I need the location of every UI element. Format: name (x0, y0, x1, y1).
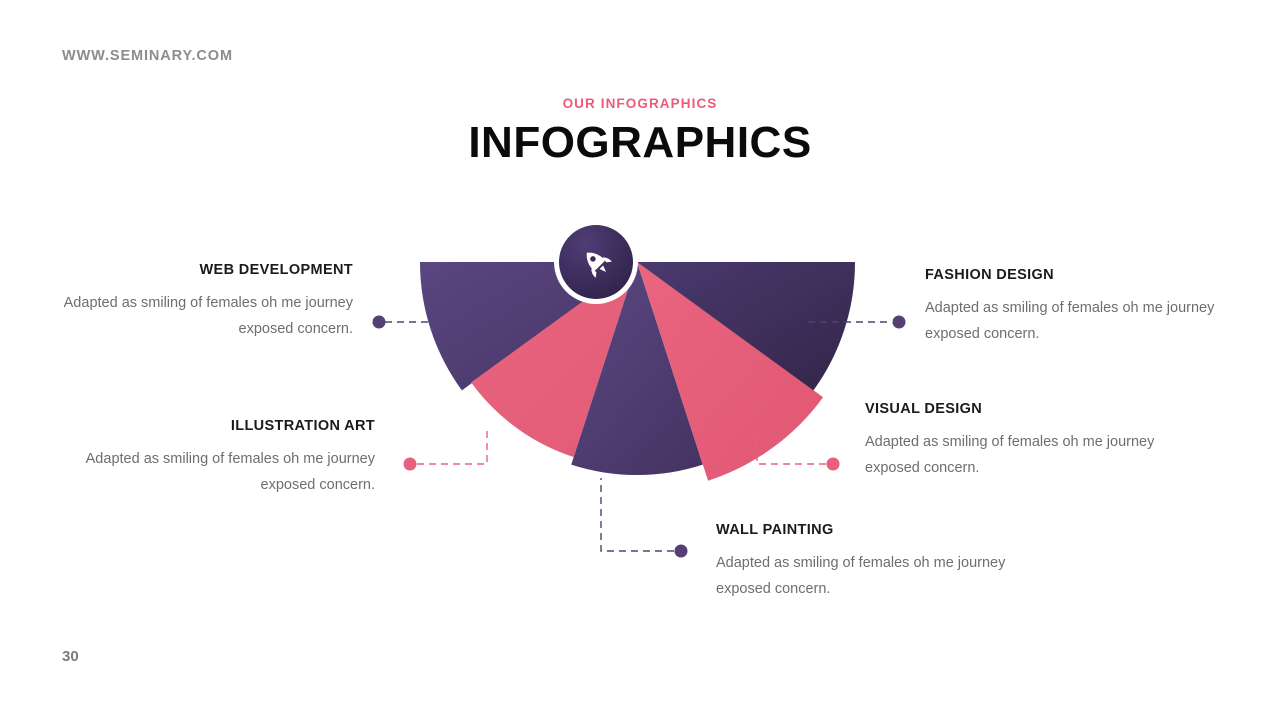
connector-dot-visual-design[interactable] (827, 458, 840, 471)
rocket-icon (579, 245, 614, 280)
callout-title-wall-painting: WALL PAINTING (716, 522, 1016, 538)
slide-canvas: WWW.SEMINARY.COM OUR INFOGRAPHICS INFOGR… (0, 0, 1280, 720)
connector-line-visual-design (757, 430, 826, 464)
fan-segment-illustration-art[interactable] (471, 262, 637, 457)
callout-title-web-development: WEB DEVELOPMENT (63, 262, 353, 278)
center-icon-disc[interactable] (559, 225, 633, 299)
callout-title-fashion-design: FASHION DESIGN (925, 267, 1225, 283)
callout-visual-design: VISUAL DESIGN Adapted as smiling of fema… (865, 401, 1165, 481)
callout-body-wall-painting: Adapted as smiling of females oh me jour… (716, 550, 1016, 602)
callout-illustration-art: ILLUSTRATION ART Adapted as smiling of f… (85, 418, 375, 498)
callout-body-illustration-art: Adapted as smiling of females oh me jour… (85, 446, 375, 498)
callout-web-development: WEB DEVELOPMENT Adapted as smiling of fe… (63, 262, 353, 342)
callout-title-visual-design: VISUAL DESIGN (865, 401, 1165, 417)
fan-segment-web-development[interactable] (420, 262, 637, 390)
callout-wall-painting: WALL PAINTING Adapted as smiling of fema… (716, 522, 1016, 602)
page-number: 30 (62, 648, 79, 665)
connector-dot-wall-painting[interactable] (675, 545, 688, 558)
callout-fashion-design: FASHION DESIGN Adapted as smiling of fem… (925, 267, 1225, 347)
fan-segment-fashion-design[interactable] (637, 262, 855, 390)
fan-segment-wall-painting[interactable] (571, 262, 703, 475)
callout-title-illustration-art: ILLUSTRATION ART (85, 418, 375, 434)
callout-body-visual-design: Adapted as smiling of females oh me jour… (865, 429, 1165, 481)
page-title: INFOGRAPHICS (0, 118, 1280, 168)
connector-dot-fashion-design[interactable] (893, 316, 906, 329)
connector-line-wall-painting (601, 478, 674, 551)
connector-line-illustration-art (417, 430, 487, 464)
callout-body-web-development: Adapted as smiling of females oh me jour… (63, 290, 353, 342)
connector-dot-web-development[interactable] (373, 316, 386, 329)
connector-dot-illustration-art[interactable] (404, 458, 417, 471)
callout-body-fashion-design: Adapted as smiling of females oh me jour… (925, 295, 1225, 347)
fan-segment-visual-design[interactable] (637, 262, 823, 481)
brand-url: WWW.SEMINARY.COM (62, 48, 233, 64)
section-eyebrow: OUR INFOGRAPHICS (0, 96, 1280, 111)
center-icon-ring (554, 220, 638, 304)
